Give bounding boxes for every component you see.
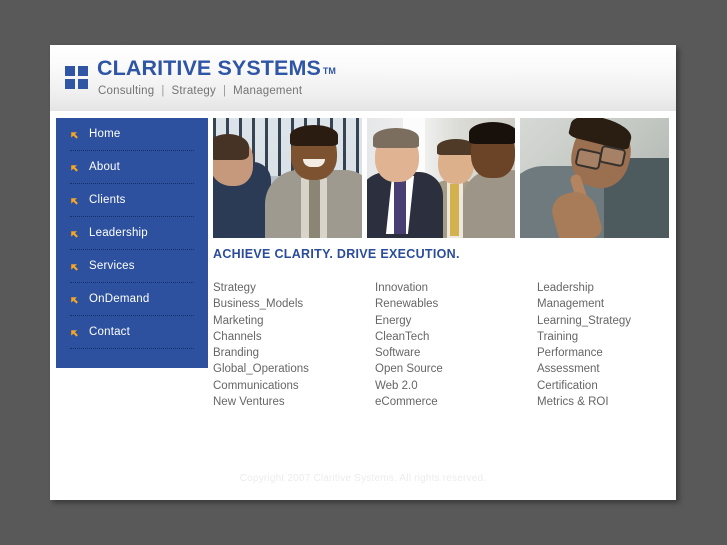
service-link[interactable]: Certification [537, 378, 631, 394]
hero-photo-strip [213, 118, 669, 238]
service-link[interactable]: Leadership [537, 280, 631, 296]
service-link[interactable]: Communications [213, 378, 375, 394]
sidebar-item-contact[interactable]: Contact [56, 316, 208, 348]
tagline-item-consulting: Consulting [98, 85, 154, 97]
sidebar-item-leadership[interactable]: Leadership [56, 217, 208, 249]
service-link[interactable]: Business_Models [213, 296, 375, 312]
arrow-down-right-icon [70, 129, 81, 140]
hero-photo-2 [367, 118, 516, 238]
main-content: ACHIEVE CLARITY. DRIVE EXECUTION. Strate… [213, 247, 669, 410]
page-headline: ACHIEVE CLARITY. DRIVE EXECUTION. [213, 247, 669, 261]
tagline-separator: | [216, 85, 233, 97]
arrow-down-right-icon [70, 294, 81, 305]
hero-photo-3 [520, 118, 669, 238]
sidebar-item-label: Contact [89, 326, 130, 338]
sidebar-item-label: Home [89, 128, 120, 140]
service-link[interactable]: Software [375, 345, 537, 361]
sidebar-item-ondemand[interactable]: OnDemand [56, 283, 208, 315]
sidebar-item-label: About [89, 161, 120, 173]
logo-square-top-left [65, 66, 75, 76]
footer-copyright: Copyright 2007 Claritive Systems. All ri… [50, 473, 676, 484]
service-link[interactable]: Global_Operations [213, 361, 375, 377]
header-tagline: Consulting|Strategy|Management [98, 85, 302, 97]
arrow-down-right-icon [70, 162, 81, 173]
link-column-1: Strategy Business_Models Marketing Chann… [213, 280, 375, 410]
sidebar-divider [70, 348, 194, 349]
arrow-down-right-icon [70, 228, 81, 239]
service-link[interactable]: Assessment [537, 361, 631, 377]
tagline-item-management: Management [233, 85, 302, 97]
arrow-down-right-icon [70, 261, 81, 272]
arrow-down-right-icon [70, 195, 81, 206]
logo-square-bottom-right [78, 79, 88, 89]
sidebar-item-label: OnDemand [89, 293, 149, 305]
site-header: CLARITIVE SYSTEMSTM Consulting|Strategy|… [50, 45, 676, 111]
service-link[interactable]: Innovation [375, 280, 537, 296]
service-link[interactable]: CleanTech [375, 329, 537, 345]
service-link[interactable]: Channels [213, 329, 375, 345]
sidebar-item-label: Services [89, 260, 135, 272]
service-link[interactable]: Strategy [213, 280, 375, 296]
service-link[interactable]: Training [537, 329, 631, 345]
sidebar-item-services[interactable]: Services [56, 250, 208, 282]
service-link[interactable]: Metrics & ROI [537, 394, 631, 410]
brand-lockup[interactable]: CLARITIVE SYSTEMSTM [97, 58, 336, 80]
page-container: CLARITIVE SYSTEMSTM Consulting|Strategy|… [50, 45, 676, 500]
service-link[interactable]: Open Source [375, 361, 537, 377]
tagline-separator: | [154, 85, 171, 97]
trademark-symbol: TM [323, 66, 336, 76]
service-link[interactable]: Learning_Strategy [537, 313, 631, 329]
brand-name: CLARITIVE SYSTEMS [97, 58, 321, 80]
sidebar-item-about[interactable]: About [56, 151, 208, 183]
link-column-3: Leadership Management Learning_Strategy … [537, 280, 631, 410]
service-link[interactable]: Marketing [213, 313, 375, 329]
service-link[interactable]: eCommerce [375, 394, 537, 410]
service-link[interactable]: Web 2.0 [375, 378, 537, 394]
sidebar-item-home[interactable]: Home [56, 118, 208, 150]
logo-square-bottom-left [65, 79, 75, 89]
service-link[interactable]: Management [537, 296, 631, 312]
service-link[interactable]: New Ventures [213, 394, 375, 410]
tagline-item-strategy: Strategy [172, 85, 216, 97]
sidebar-item-label: Leadership [89, 227, 148, 239]
four-squares-logo-icon[interactable] [65, 66, 88, 89]
service-link-columns: Strategy Business_Models Marketing Chann… [213, 280, 669, 410]
service-link[interactable]: Renewables [375, 296, 537, 312]
sidebar-nav: Home About Clients Leadership [56, 118, 208, 368]
service-link[interactable]: Energy [375, 313, 537, 329]
hero-photo-1 [213, 118, 362, 238]
link-column-2: Innovation Renewables Energy CleanTech S… [375, 280, 537, 410]
service-link[interactable]: Branding [213, 345, 375, 361]
sidebar-item-clients[interactable]: Clients [56, 184, 208, 216]
arrow-down-right-icon [70, 327, 81, 338]
logo-square-top-right [78, 66, 88, 76]
service-link[interactable]: Performance [537, 345, 631, 361]
sidebar-item-label: Clients [89, 194, 126, 206]
